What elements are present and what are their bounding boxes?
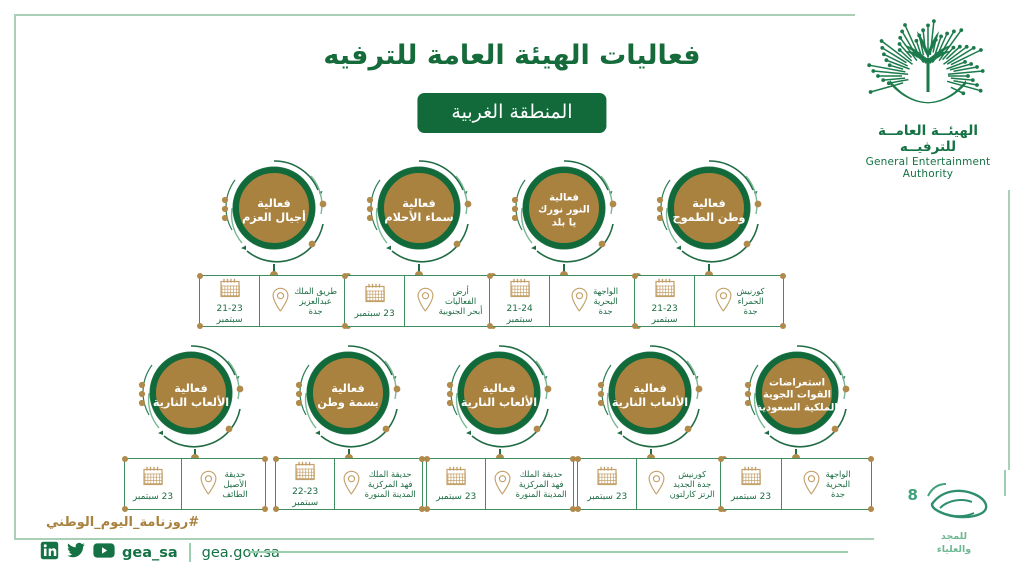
event-info-box: حديقة الملكفهد المركزيةالمدينة المنورة23… [426, 458, 574, 510]
event-name-line: وطن الطموح [663, 211, 755, 225]
event-location-line: فهد المركزية [365, 479, 416, 489]
event-location-line: حديقة [222, 469, 247, 479]
event-date-line: سبتمبر [652, 315, 678, 326]
event-circle: فعاليةالألعاب النارية [424, 337, 574, 455]
event-date: 23 سبتمبر [578, 459, 636, 509]
event-date-line: 22-23 [292, 487, 318, 498]
gea-brand-english: General Entertainment Authority [848, 156, 1008, 180]
event-date: 21-23سبتمبر [635, 276, 694, 326]
event-date-line: 23 سبتمبر [355, 309, 395, 320]
event-info-box: كورنيشالحمراءجدة21-23سبتمبر [634, 275, 784, 327]
event-name: فعاليةالنور نوركيا بلد [520, 192, 608, 229]
corner-dot [575, 506, 581, 512]
map-pin-icon [199, 470, 218, 499]
event-date-text: 21-23سبتمبر [217, 304, 243, 325]
event-date: 23 سبتمبر [345, 276, 404, 326]
event-location: حديقة الملكفهد المركزيةالمدينة المنورة [334, 459, 422, 509]
national-day-slogan-line-1: للمجد [906, 531, 1002, 543]
event-name-line: بسمة وطن [302, 396, 394, 410]
event-location-text: الواجهةالبحريةجدة [825, 469, 850, 500]
event-location-line: كورنيش [670, 469, 715, 479]
event-card[interactable]: فعاليةبسمة وطنحديقة الملكفهد المركزيةالم… [275, 337, 423, 510]
event-name-line: فعالية [228, 197, 320, 211]
event-date: 22-23سبتمبر [276, 459, 334, 509]
event-info-box: أرضالفعالياتأبحر الجنوبية23 سبتمبر [344, 275, 494, 327]
event-location-line: البحرية [825, 479, 850, 489]
event-location-line: جدة [825, 489, 850, 499]
event-location-line: الرتز كارلتون [670, 489, 715, 499]
event-location: كورنيشالحمراءجدة [694, 276, 783, 326]
event-name-line: فعالية [604, 382, 696, 396]
event-location-line: حديقة الملك [516, 469, 567, 479]
event-location-line: الأصيل [222, 479, 247, 489]
corner-dot [868, 456, 874, 462]
region-badge: المنطقة الغربية [417, 93, 606, 133]
event-circle: فعاليةالنور نوركيا بلد [489, 152, 639, 270]
corner-dot [197, 273, 203, 279]
national-day-slogan-line-2: والعلياء [906, 544, 1002, 556]
event-name-line: فعالية [663, 197, 755, 211]
event-info-box: كورنيشجدة الجديدالرتز كارلتون23 سبتمبر [577, 458, 725, 510]
calendar-icon [740, 465, 762, 491]
event-info-box: الواجهةالبحريةجدة21-24سبتمبر [489, 275, 639, 327]
event-info-box: طريق الملكعبدالعزيزجدة21-23سبتمبر [199, 275, 349, 327]
event-name-line: فعالية [145, 382, 237, 396]
corner-dot [342, 323, 348, 329]
event-name: فعاليةالألعاب النارية [145, 382, 237, 410]
event-location-line: الحمراء [737, 296, 765, 306]
event-name: فعاليةوطن الطموح [663, 197, 755, 225]
event-location-line: جدة [593, 306, 618, 316]
event-name: فعاليةبسمة وطن [302, 382, 394, 410]
calendar-icon [364, 282, 386, 308]
svg-text:88: 88 [908, 486, 918, 504]
national-day-logo: 88 للمجد والعلياء [906, 478, 1002, 555]
event-circle: فعاليةالألعاب النارية [116, 337, 266, 455]
event-circle: فعاليةالألعاب النارية [575, 337, 725, 455]
event-location-line: جدة [737, 306, 765, 316]
corner-dot [122, 456, 128, 462]
footer-rule [248, 551, 848, 553]
event-location-line: المدينة المنورة [516, 489, 567, 499]
poster-canvas: فعاليات الهيئة العامة للترفيه المنطقة ال… [0, 0, 1024, 576]
event-card[interactable]: فعاليةسماء الأحلامأرضالفعالياتأبحر الجنو… [344, 152, 494, 327]
corner-dot [273, 456, 279, 462]
youtube-icon[interactable] [93, 541, 115, 564]
event-location-line: الواجهة [825, 469, 850, 479]
event-card[interactable]: فعاليةالألعاب الناريةكورنيشجدة الجديدالر… [577, 337, 725, 510]
event-date-line: سبتمبر [217, 315, 243, 326]
event-name: فعاليةسماء الأحلام [373, 197, 465, 225]
corner-dot [122, 506, 128, 512]
event-date-line: 21-24 [507, 304, 533, 315]
event-location-line: كورنيش [737, 286, 765, 296]
calendar-icon [294, 460, 316, 486]
event-circle: فعاليةوطن الطموح [634, 152, 784, 270]
event-name-line: استعراضات [753, 377, 841, 389]
calendar-icon [219, 277, 241, 303]
event-location-line: الواجهة [593, 286, 618, 296]
corner-dot [487, 323, 493, 329]
event-card[interactable]: استعراضاتالقوات الجويةالملكية السعوديةال… [720, 337, 872, 510]
map-pin-icon [342, 470, 361, 499]
gea-brand-arabic: الهيئــة العامــة للترفيــه [848, 123, 1008, 155]
event-date-text: 23 سبتمبر [436, 492, 476, 503]
event-date-text: 21-23سبتمبر [652, 304, 678, 325]
event-card[interactable]: فعاليةالنور نوركيا بلدالواجهةالبحريةجدة2… [489, 152, 639, 327]
event-date-text: 21-24سبتمبر [507, 304, 533, 325]
corner-dot [262, 506, 268, 512]
event-location-line: البحرية [593, 296, 618, 306]
event-circle: فعاليةأجيال العزم [199, 152, 349, 270]
event-date-text: 23 سبتمبر [731, 492, 771, 503]
corner-dot [718, 506, 724, 512]
event-card[interactable]: فعاليةالألعاب الناريةحديقة الملكفهد المر… [426, 337, 574, 510]
event-date-line: 21-23 [652, 304, 678, 315]
frame-left-line [14, 14, 16, 539]
event-name: فعاليةالألعاب النارية [453, 382, 545, 410]
event-location-line: أبحر الجنوبية [439, 306, 483, 316]
event-date: 23 سبتمبر [721, 459, 781, 509]
event-location: حديقة الملكفهد المركزيةالمدينة المنورة [485, 459, 573, 509]
event-card[interactable]: فعاليةالألعاب الناريةحديقةالأصيلالطائف23… [124, 337, 266, 510]
map-pin-icon [416, 287, 435, 316]
map-pin-icon [271, 287, 290, 316]
event-location-line: الطائف [222, 489, 247, 499]
footer-divider [189, 543, 191, 562]
corner-dot [632, 323, 638, 329]
event-location: كورنيشجدة الجديدالرتز كارلتون [636, 459, 724, 509]
event-card[interactable]: فعاليةوطن الطموحكورنيشالحمراءجدة21-23سبت… [634, 152, 784, 327]
event-circle: فعاليةبسمة وطن [273, 337, 423, 455]
map-pin-icon [802, 470, 821, 499]
event-date-text: 23 سبتمبر [355, 309, 395, 320]
corner-dot [487, 273, 493, 279]
event-location-line: جدة [294, 306, 337, 316]
event-name-line: القوات الجوية [753, 390, 841, 402]
event-location: الواجهةالبحريةجدة [549, 276, 638, 326]
frame-right-line [1008, 190, 1010, 470]
event-date-line: 23 سبتمبر [587, 492, 627, 503]
event-location: الواجهةالبحريةجدة [781, 459, 871, 509]
calendar-icon [509, 277, 531, 303]
event-location-line: أرض [439, 286, 483, 296]
event-location-line: المدينة المنورة [365, 489, 416, 499]
linkedin-icon[interactable] [40, 541, 59, 564]
event-name-line: الألعاب النارية [604, 396, 696, 410]
map-pin-icon [714, 287, 733, 316]
event-location-line: حديقة الملك [365, 469, 416, 479]
event-name: فعاليةأجيال العزم [228, 197, 320, 225]
event-date-text: 23 سبتمبر [587, 492, 627, 503]
frame-top-line [14, 14, 855, 16]
corner-dot [424, 506, 430, 512]
national-day-calligraphy-icon: 88 [908, 478, 1000, 526]
corner-dot [780, 323, 786, 329]
event-name-line: سماء الأحلام [373, 211, 465, 225]
event-location: حديقةالأصيلالطائف [181, 459, 265, 509]
event-date-line: 23 سبتمبر [731, 492, 771, 503]
event-circle: استعراضاتالقوات الجويةالملكية السعودية [722, 337, 872, 455]
calendar-icon [596, 465, 618, 491]
frame-bottom-line [14, 538, 874, 540]
event-location-text: الواجهةالبحريةجدة [593, 286, 618, 317]
event-name-line: يا بلد [520, 217, 608, 229]
event-date: 23 سبتمبر [125, 459, 181, 509]
event-date-line: 21-23 [217, 304, 243, 315]
event-date-line: 23 سبتمبر [133, 492, 173, 503]
gea-palm-fireworks-logo [860, 14, 996, 126]
event-info-box: حديقة الملكفهد المركزيةالمدينة المنورة22… [275, 458, 423, 510]
corner-dot [575, 456, 581, 462]
event-name-line: فعالية [453, 382, 545, 396]
corner-dot [632, 273, 638, 279]
event-date-text: 23 سبتمبر [133, 492, 173, 503]
event-location-text: كورنيشجدة الجديدالرتز كارلتون [670, 469, 715, 500]
event-name-line: الألعاب النارية [453, 396, 545, 410]
event-location-line: الفعاليات [439, 296, 483, 306]
map-pin-icon [493, 470, 512, 499]
event-date: 21-23سبتمبر [200, 276, 259, 326]
event-name-line: فعالية [373, 197, 465, 211]
event-location: طريق الملكعبدالعزيزجدة [259, 276, 348, 326]
event-location-line: جدة الجديد [670, 479, 715, 489]
corner-dot [424, 456, 430, 462]
event-name: فعاليةالألعاب النارية [604, 382, 696, 410]
event-date: 21-24سبتمبر [490, 276, 549, 326]
event-location-text: حديقةالأصيلالطائف [222, 469, 247, 500]
twitter-icon[interactable] [66, 541, 86, 564]
corner-dot [780, 273, 786, 279]
event-location-text: طريق الملكعبدالعزيزجدة [294, 286, 337, 317]
event-date-line: سبتمبر [507, 315, 533, 326]
event-location-line: فهد المركزية [516, 479, 567, 489]
event-location: أرضالفعالياتأبحر الجنوبية [404, 276, 493, 326]
calendar-icon [142, 465, 164, 491]
event-name-line: أجيال العزم [228, 211, 320, 225]
event-name-line: فعالية [520, 192, 608, 204]
event-info-box: حديقةالأصيلالطائف23 سبتمبر [124, 458, 266, 510]
corner-dot [197, 323, 203, 329]
event-date: 23 سبتمبر [427, 459, 485, 509]
social-handle[interactable]: gea_sa [122, 545, 178, 561]
event-circle: فعاليةسماء الأحلام [344, 152, 494, 270]
event-name-line: فعالية [302, 382, 394, 396]
map-pin-icon [570, 287, 589, 316]
event-location-text: حديقة الملكفهد المركزيةالمدينة المنورة [516, 469, 567, 500]
event-location-text: أرضالفعالياتأبحر الجنوبية [439, 286, 483, 317]
event-location-line: طريق الملك [294, 286, 337, 296]
corner-dot [718, 456, 724, 462]
event-date-text: 22-23سبتمبر [292, 487, 318, 508]
event-card[interactable]: فعاليةأجيال العزمطريق الملكعبدالعزيزجدة2… [199, 152, 349, 327]
hashtag-label: #روزنامة_اليوم_الوطني [46, 515, 199, 530]
event-location-text: كورنيشالحمراءجدة [737, 286, 765, 317]
event-location-text: حديقة الملكفهد المركزيةالمدينة المنورة [365, 469, 416, 500]
event-location-line: عبدالعزيز [294, 296, 337, 306]
national-day-divider [1004, 470, 1006, 496]
corner-dot [868, 506, 874, 512]
event-date-line: 23 سبتمبر [436, 492, 476, 503]
event-name-line: الملكية السعودية [753, 402, 841, 414]
corner-dot [262, 456, 268, 462]
corner-dot [342, 273, 348, 279]
corner-dot [273, 506, 279, 512]
calendar-icon [445, 465, 467, 491]
calendar-icon [654, 277, 676, 303]
map-pin-icon [647, 470, 666, 499]
event-info-box: الواجهةالبحريةجدة23 سبتمبر [720, 458, 872, 510]
social-row: gea_sa gea.gov.sa [40, 541, 280, 564]
event-name: استعراضاتالقوات الجويةالملكية السعودية [753, 377, 841, 414]
event-name-line: النور نورك [520, 205, 608, 217]
event-date-line: سبتمبر [292, 498, 318, 509]
gea-logo: الهيئــة العامــة للترفيــه General Ente… [848, 14, 1008, 164]
event-name-line: الألعاب النارية [145, 396, 237, 410]
